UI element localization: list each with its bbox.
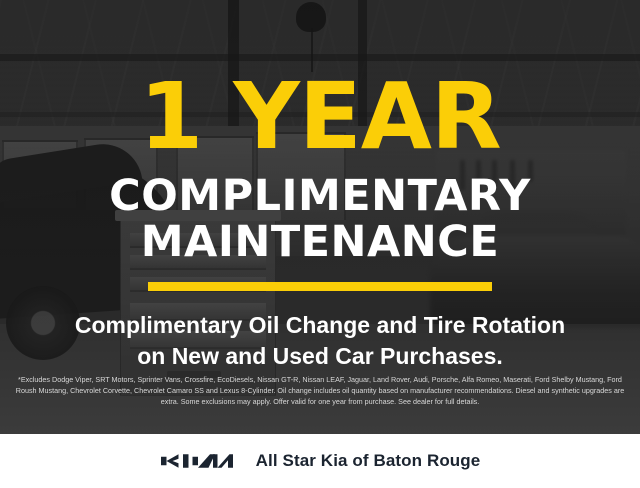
kia-logo — [160, 451, 234, 471]
offer-line-1: Complimentary Oil Change and Tire Rotati… — [0, 310, 640, 340]
footer-bar: All Star Kia of Baton Rouge — [0, 434, 640, 488]
headline-secondary-line-1: COMPLIMENTARY — [0, 174, 640, 220]
yellow-divider-bar — [148, 282, 492, 291]
headline-primary: 1 YEAR — [0, 0, 640, 162]
headline-secondary: COMPLIMENTARY MAINTENANCE — [0, 162, 640, 265]
offer-description: Complimentary Oil Change and Tire Rotati… — [0, 291, 640, 371]
advertisement-banner: 1 YEAR COMPLIMENTARY MAINTENANCE Complim… — [0, 0, 640, 488]
headline-secondary-line-2: MAINTENANCE — [0, 220, 640, 266]
disclaimer-text: *Excludes Dodge Viper, SRT Motors, Sprin… — [12, 374, 628, 408]
offer-line-2: on New and Used Car Purchases. — [0, 341, 640, 371]
promo-content: 1 YEAR COMPLIMENTARY MAINTENANCE Complim… — [0, 0, 640, 434]
dealer-name: All Star Kia of Baton Rouge — [256, 451, 481, 471]
